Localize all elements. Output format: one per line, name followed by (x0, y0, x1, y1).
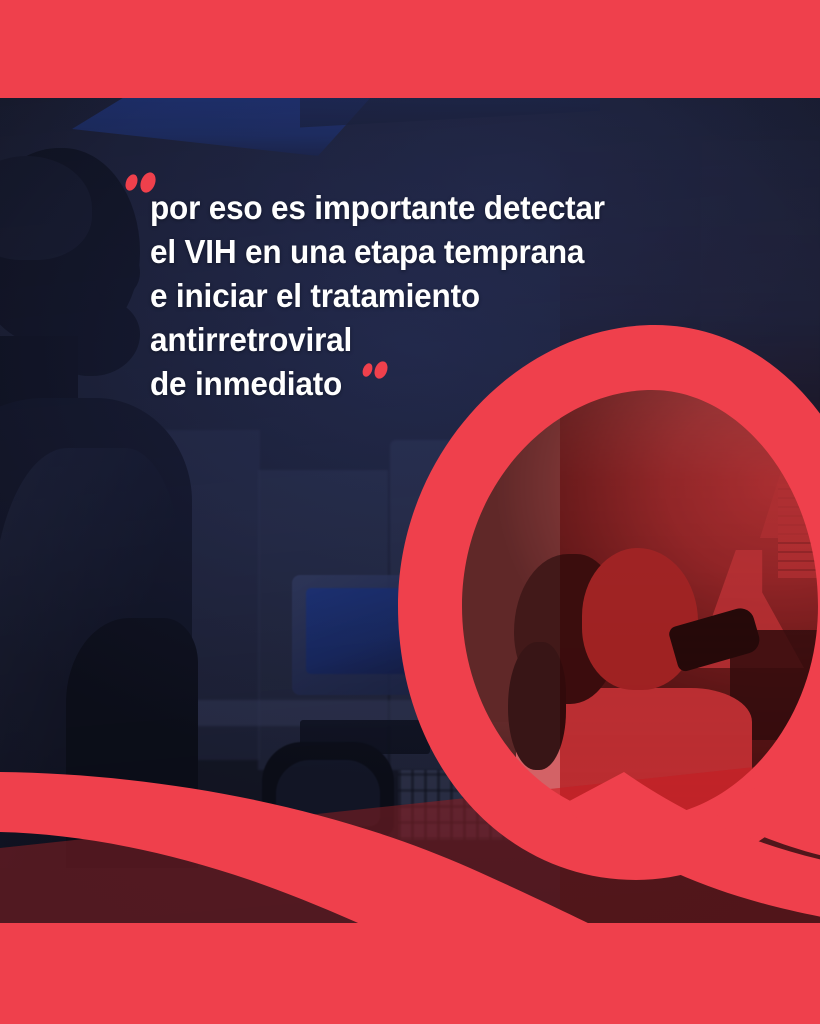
top-red-band (0, 0, 820, 98)
poster-card: por eso es importante detectar el VIH en… (0, 0, 820, 1024)
red-awareness-ribbon (0, 0, 820, 1024)
quote-line-2: el VIH en una etapa temprana (150, 230, 647, 274)
quote-line-4: antirretroviral (150, 318, 647, 362)
quote-line-3: e iniciar el tratamiento (150, 274, 647, 318)
quote-line-1: por eso es importante detectar (150, 186, 647, 230)
quote-block: por eso es importante detectar el VIH en… (150, 186, 670, 406)
bottom-red-band (0, 923, 820, 1024)
quote-line-5: de inmediato (150, 362, 647, 406)
